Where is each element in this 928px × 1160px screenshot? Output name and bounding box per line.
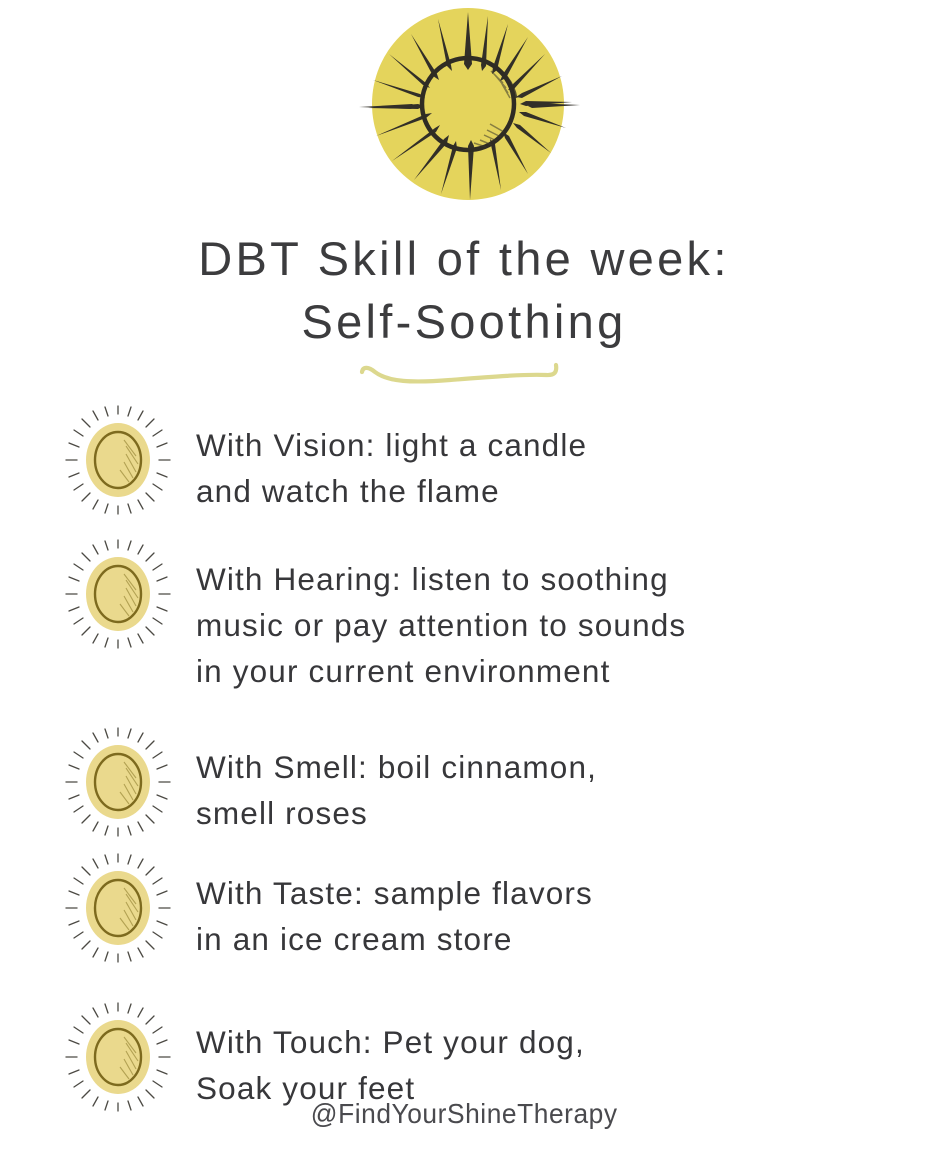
text-line: music or pay attention to sounds [196, 602, 898, 648]
list-item-text: With Smell: boil cinnamon, smell roses [196, 734, 928, 836]
list-item: With Smell: boil cinnamon, smell roses [0, 734, 928, 838]
sun-icon [62, 538, 174, 650]
text-line: With Vision: light a candle [196, 422, 898, 468]
list-item-text: With Vision: light a candle and watch th… [196, 412, 928, 514]
sun-icon [356, 4, 584, 216]
sun-icon [62, 404, 174, 516]
title-line-1: DBT Skill of the week: [0, 228, 928, 291]
list-item-text: With Touch: Pet your dog, Soak your feet [196, 1009, 928, 1111]
sun-icon [62, 726, 174, 838]
list-item: With Vision: light a candle and watch th… [0, 412, 928, 516]
skills-list: With Vision: light a candle and watch th… [0, 412, 928, 1113]
squiggle-underline-icon [358, 358, 568, 392]
list-item: With Taste: sample flavors in an ice cre… [0, 860, 928, 964]
text-line: in an ice cream store [196, 916, 898, 962]
text-line: in your current environment [196, 648, 898, 694]
footer: @FindYourShineTherapy [0, 1098, 928, 1130]
sun-icon [62, 1001, 174, 1113]
infographic-page: DBT Skill of the week: Self-Soothing [0, 0, 928, 1160]
social-handle: @FindYourShineTherapy [311, 1098, 618, 1130]
text-line: With Smell: boil cinnamon, [196, 744, 898, 790]
list-item-text: With Taste: sample flavors in an ice cre… [196, 860, 928, 962]
list-item: With Hearing: listen to soothing music o… [0, 546, 928, 694]
text-line: With Touch: Pet your dog, [196, 1019, 898, 1065]
text-line: With Taste: sample flavors [196, 870, 898, 916]
list-item-text: With Hearing: listen to soothing music o… [196, 546, 928, 694]
title-line-2: Self-Soothing [0, 291, 928, 354]
text-line: smell roses [196, 790, 898, 836]
text-line: With Hearing: listen to soothing [196, 556, 898, 602]
text-line: and watch the flame [196, 468, 898, 514]
page-title: DBT Skill of the week: Self-Soothing [0, 228, 928, 353]
sun-icon [62, 852, 174, 964]
